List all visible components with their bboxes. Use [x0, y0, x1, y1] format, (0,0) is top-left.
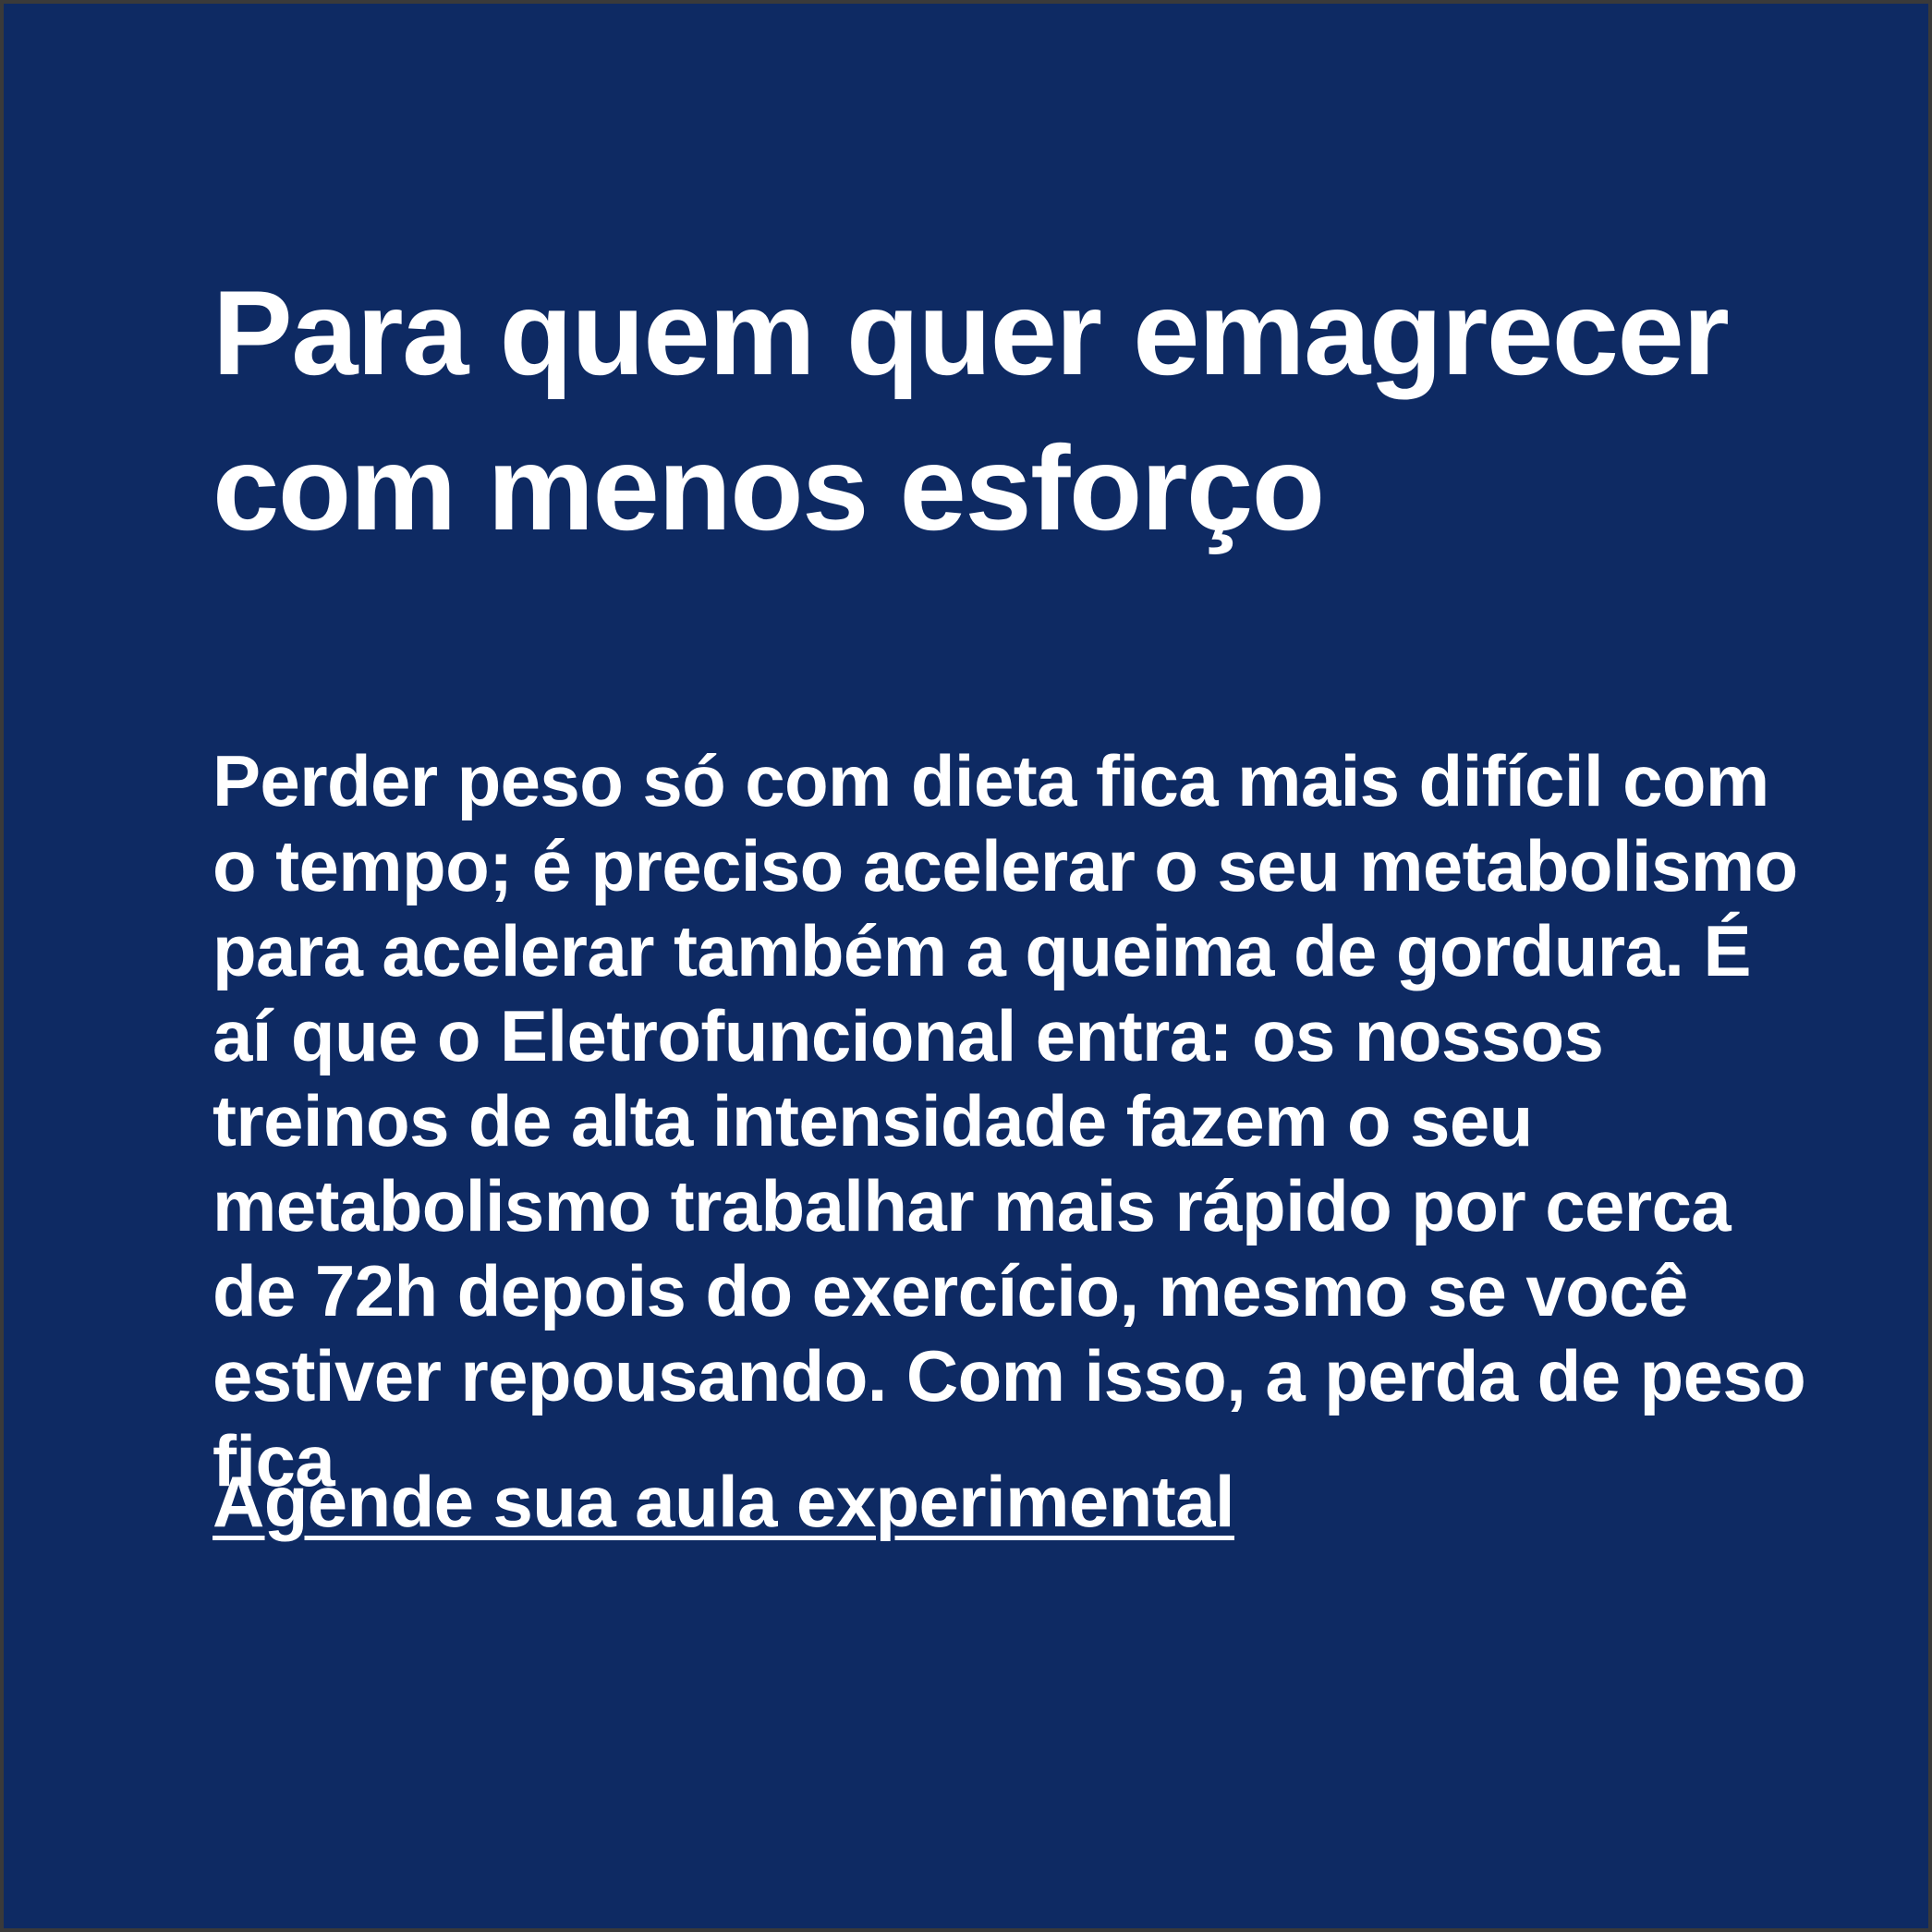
page-title: Para quem quer emagrecer com menos esfor…: [213, 255, 1811, 565]
body-paragraph: Perder peso só com dieta fica mais difíc…: [213, 738, 1811, 1503]
social-post-card: Para quem quer emagrecer com menos esfor…: [0, 0, 1932, 1932]
schedule-trial-class-link[interactable]: Agende sua aula experimental: [213, 1459, 1234, 1544]
cta-container: Agende sua aula experimental: [213, 1459, 1811, 1544]
